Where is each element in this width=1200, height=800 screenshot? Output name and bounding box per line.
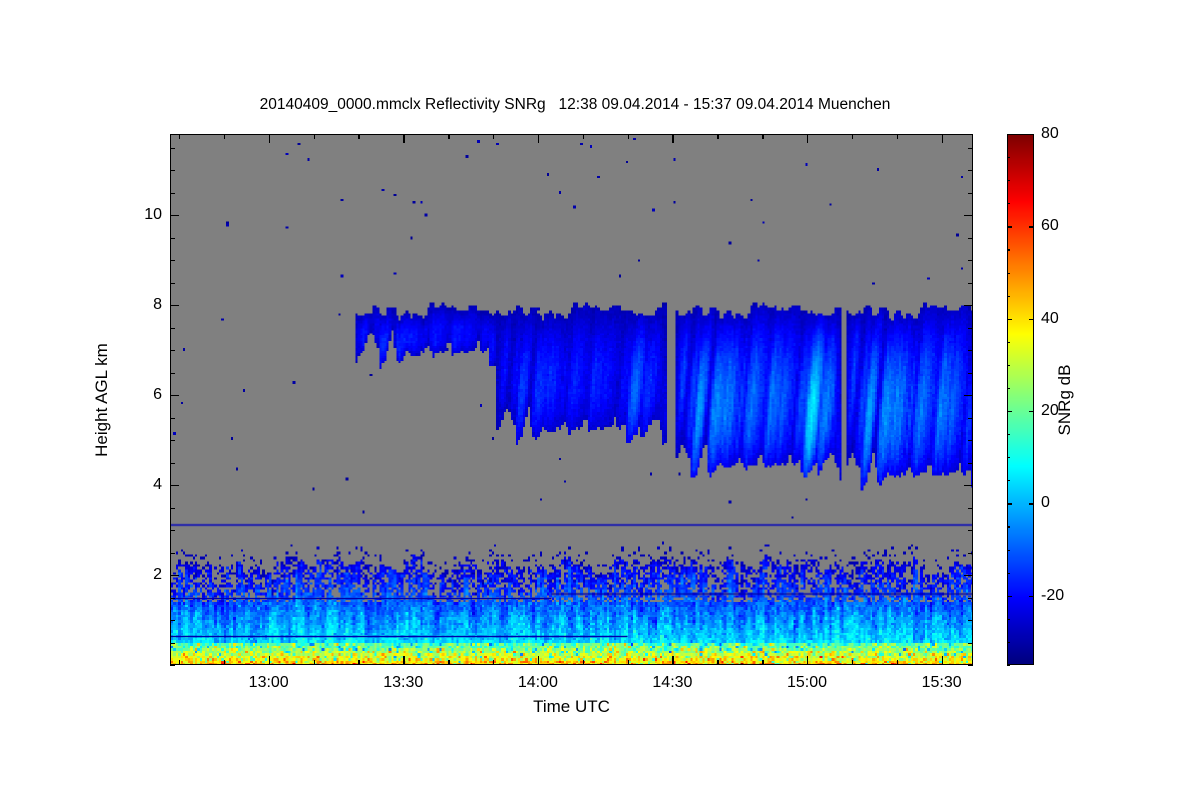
page-title: 20140409_0000.mmclx Reflectivity SNRg 12…	[170, 96, 980, 114]
y-tick-right	[968, 530, 973, 531]
colorbar-tick-label: 40	[1041, 310, 1059, 328]
y-tick-label: 6	[118, 386, 162, 404]
y-tick-label: 2	[118, 566, 162, 584]
colorbar-gradient	[1008, 135, 1033, 664]
y-tick-left	[170, 350, 175, 351]
y-tick-label: 4	[118, 476, 162, 494]
x-tick-top	[717, 134, 718, 139]
colorbar-tick	[1007, 411, 1012, 412]
colorbar-tick	[1029, 319, 1034, 320]
x-tick-label: 15:30	[922, 674, 962, 692]
x-tick-bottom	[448, 660, 449, 665]
y-tick-right	[964, 485, 973, 486]
y-tick-right	[968, 238, 973, 239]
y-tick-left	[170, 283, 175, 284]
colorbar-minor-tick	[1007, 342, 1010, 343]
colorbar-minor-tick	[1007, 457, 1010, 458]
x-tick-bottom	[762, 660, 763, 665]
x-axis-title: Time UTC	[170, 697, 973, 717]
x-tick-top	[224, 134, 225, 139]
x-tick-label: 15:00	[787, 674, 827, 692]
x-tick-bottom	[538, 656, 539, 665]
y-tick-right	[964, 395, 973, 396]
y-tick-left	[170, 193, 175, 194]
colorbar-minor-tick	[1007, 573, 1010, 574]
x-tick-bottom	[403, 656, 404, 665]
x-tick-top	[672, 134, 673, 143]
y-tick-left	[170, 553, 175, 554]
x-tick-top	[942, 134, 943, 143]
y-tick-left	[170, 215, 179, 216]
y-tick-right	[968, 260, 973, 261]
x-tick-top	[807, 134, 808, 143]
colorbar-minor-tick	[1007, 434, 1010, 435]
radar-timeheight-figure: 20140409_0000.mmclx Reflectivity SNRg 12…	[0, 0, 1200, 800]
colorbar-tick	[1029, 411, 1034, 412]
x-tick-top	[179, 134, 180, 139]
y-tick-left	[170, 170, 175, 171]
colorbar-minor-tick	[1007, 365, 1010, 366]
x-tick-label: 14:00	[518, 674, 558, 692]
x-tick-bottom	[179, 660, 180, 665]
x-tick-top	[269, 134, 270, 143]
x-tick-bottom	[807, 656, 808, 665]
colorbar-tick	[1007, 226, 1012, 227]
x-tick-top	[493, 134, 494, 139]
plot-area[interactable]	[170, 134, 973, 665]
y-axis-title: Height AGL km	[92, 343, 112, 457]
x-tick-bottom	[628, 660, 629, 665]
y-tick-right	[968, 148, 973, 149]
y-tick-right	[968, 193, 973, 194]
y-tick-left	[170, 643, 175, 644]
y-tick-label: 8	[118, 296, 162, 314]
x-tick-bottom	[583, 660, 584, 665]
y-tick-label: 10	[118, 206, 162, 224]
x-tick-bottom	[358, 660, 359, 665]
colorbar-minor-tick	[1007, 249, 1010, 250]
y-tick-right	[968, 440, 973, 441]
y-tick-left	[170, 665, 175, 666]
x-tick-label: 13:30	[383, 674, 423, 692]
colorbar-minor-tick	[1007, 203, 1010, 204]
x-tick-top	[538, 134, 539, 143]
colorbar-tick	[1029, 503, 1034, 504]
y-tick-left	[170, 373, 175, 374]
y-tick-right	[968, 598, 973, 599]
colorbar-minor-tick	[1007, 273, 1010, 274]
x-tick-bottom	[224, 660, 225, 665]
x-tick-top	[583, 134, 584, 139]
y-tick-left	[170, 328, 175, 329]
y-tick-right	[968, 463, 973, 464]
colorbar-minor-tick	[1007, 388, 1010, 389]
colorbar-minor-tick	[1007, 619, 1010, 620]
x-tick-bottom	[942, 656, 943, 665]
colorbar-tick	[1007, 503, 1012, 504]
colorbar-tick	[1029, 226, 1034, 227]
y-tick-right	[968, 283, 973, 284]
x-tick-label: 13:00	[249, 674, 289, 692]
colorbar-minor-tick	[1007, 180, 1010, 181]
y-tick-left	[170, 440, 175, 441]
x-tick-top	[314, 134, 315, 139]
y-tick-left	[170, 508, 175, 509]
x-tick-bottom	[717, 660, 718, 665]
colorbar-tick	[1007, 596, 1012, 597]
y-tick-left	[170, 148, 175, 149]
colorbar-tick	[1029, 134, 1034, 135]
y-tick-left	[170, 620, 175, 621]
colorbar-tick-label: -20	[1041, 587, 1064, 605]
colorbar-tick-label: 0	[1041, 494, 1050, 512]
y-tick-right	[968, 350, 973, 351]
y-tick-right	[968, 328, 973, 329]
y-tick-left	[170, 238, 175, 239]
y-tick-left	[170, 305, 179, 306]
reflectivity-heatmap-canvas	[171, 135, 972, 664]
colorbar-minor-tick	[1007, 526, 1010, 527]
x-tick-bottom	[672, 656, 673, 665]
y-tick-right	[964, 215, 973, 216]
y-tick-left	[170, 260, 175, 261]
colorbar-minor-tick	[1007, 665, 1010, 666]
y-tick-right	[968, 643, 973, 644]
x-tick-top	[403, 134, 404, 143]
x-tick-bottom	[852, 660, 853, 665]
x-tick-top	[852, 134, 853, 139]
x-tick-bottom	[314, 660, 315, 665]
y-tick-right	[968, 373, 973, 374]
x-tick-top	[448, 134, 449, 139]
colorbar-tick-label: 60	[1041, 217, 1059, 235]
x-tick-top	[628, 134, 629, 139]
colorbar-tick	[1029, 596, 1034, 597]
colorbar-title: SNRg dB	[1055, 365, 1075, 436]
y-tick-left	[170, 418, 175, 419]
y-tick-right	[968, 553, 973, 554]
y-tick-right	[968, 508, 973, 509]
y-tick-right	[968, 620, 973, 621]
colorbar-tick	[1007, 134, 1012, 135]
y-tick-left	[170, 463, 175, 464]
colorbar-minor-tick	[1007, 550, 1010, 551]
x-tick-top	[358, 134, 359, 139]
colorbar-minor-tick	[1007, 642, 1010, 643]
x-tick-top	[762, 134, 763, 139]
x-tick-bottom	[269, 656, 270, 665]
colorbar-tick-label: 80	[1041, 125, 1059, 143]
colorbar[interactable]	[1007, 134, 1034, 665]
y-tick-right	[964, 305, 973, 306]
x-tick-bottom	[493, 660, 494, 665]
colorbar-minor-tick	[1007, 296, 1010, 297]
y-tick-right	[968, 170, 973, 171]
y-tick-left	[170, 485, 179, 486]
y-tick-left	[170, 598, 175, 599]
x-tick-top	[897, 134, 898, 139]
colorbar-tick	[1007, 319, 1012, 320]
x-tick-bottom	[897, 660, 898, 665]
y-tick-left	[170, 395, 179, 396]
colorbar-minor-tick	[1007, 157, 1010, 158]
y-tick-left	[170, 575, 179, 576]
y-tick-right	[968, 418, 973, 419]
y-tick-right	[968, 665, 973, 666]
x-tick-label: 14:30	[652, 674, 692, 692]
colorbar-minor-tick	[1007, 480, 1010, 481]
y-tick-left	[170, 530, 175, 531]
y-tick-right	[964, 575, 973, 576]
